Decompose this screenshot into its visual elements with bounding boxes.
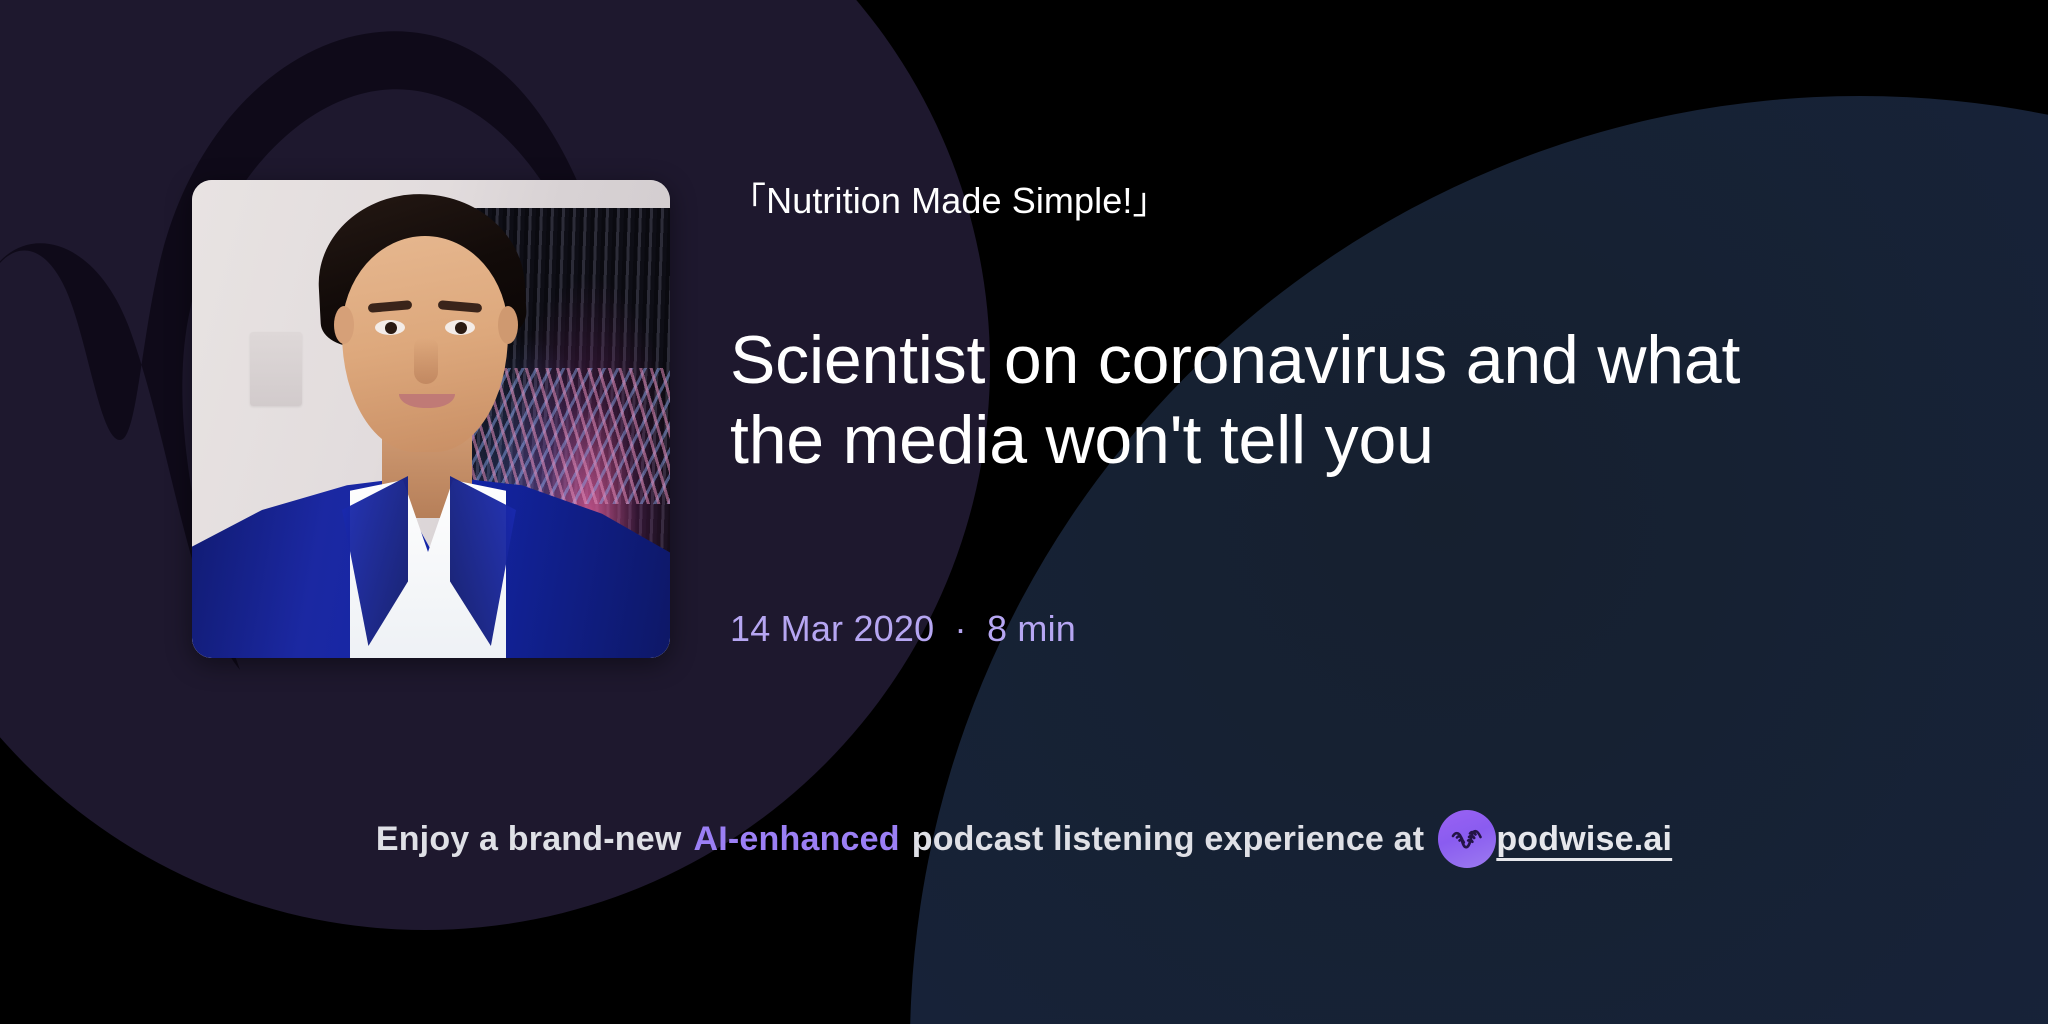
portrait-ear-left: [334, 306, 354, 344]
episode-duration: 8 min: [987, 608, 1076, 649]
portrait-nose: [414, 338, 438, 384]
episode-date: 14 Mar 2020: [730, 608, 934, 649]
footer-promo: Enjoy a brand-new AI-enhanced podcast li…: [0, 810, 2048, 868]
portrait-pupil-left: [385, 322, 397, 334]
episode-title: Scientist on coronavirus and what the me…: [730, 320, 1890, 480]
episode-title-line-1: Scientist on coronavirus and what: [730, 320, 1890, 400]
meta-separator: ·: [945, 608, 977, 649]
footer-text-2: podcast listening experience at: [912, 820, 1425, 859]
portrait-ear-right: [498, 306, 518, 344]
episode-title-line-2: the media won't tell you: [730, 400, 1890, 480]
podwise-wave-logo-icon: [1438, 810, 1496, 868]
footer-text-1: Enjoy a brand-new: [376, 820, 682, 859]
podwise-brand-link[interactable]: podwise.ai: [1438, 810, 1672, 868]
episode-info-column: 「Nutrition Made Simple!」 Scientist on co…: [730, 0, 2020, 1024]
podcast-name[interactable]: 「Nutrition Made Simple!」: [730, 180, 1169, 221]
podwise-brand-name[interactable]: podwise.ai: [1496, 820, 1672, 859]
footer-accent-text: AI-enhanced: [694, 820, 900, 859]
podwise-episode-share-card: 「Nutrition Made Simple!」 Scientist on co…: [0, 0, 2048, 1024]
episode-meta: 14 Mar 2020 · 8 min: [730, 608, 1076, 650]
artwork-host-portrait: [192, 180, 670, 658]
portrait-pupil-right: [455, 322, 467, 334]
podcast-artwork[interactable]: [192, 180, 670, 658]
